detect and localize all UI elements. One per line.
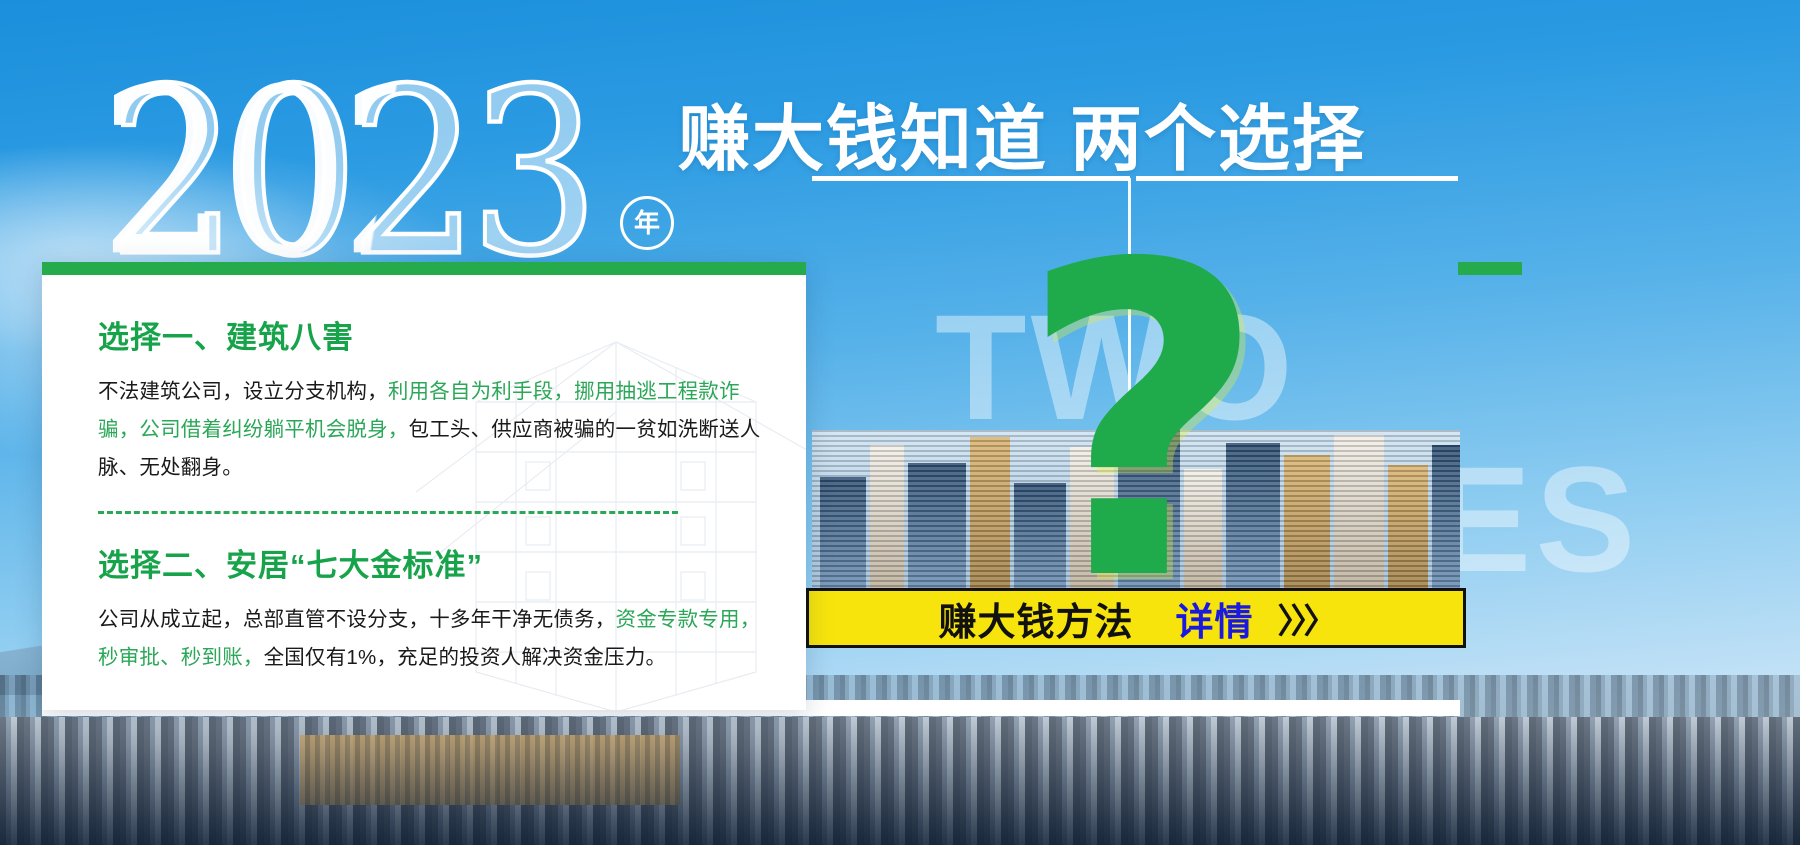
bottom-strip-highlight <box>300 735 680 805</box>
section-2-text-part-1: 公司从成立起，总部直管不设分支，十多年干净无债务， <box>98 608 616 631</box>
section-2-text: 公司从成立起，总部直管不设分支，十多年干净无债务，资金专款专用，秒审批、秒到账，… <box>98 601 772 677</box>
year-badge: 年 <box>620 196 674 250</box>
year-solid-text: 2023 <box>99 62 581 286</box>
question-mark-icon: ? <box>1018 210 1267 640</box>
section-2-text-part-3: 全国仅有1%，充足的投资人解决资金压力。 <box>264 646 667 669</box>
page-title: 赚大钱知道 两个选择 <box>678 80 1478 185</box>
section-1-text-part-1: 不法建筑公司，设立分支机构， <box>98 380 388 403</box>
section-2-title: 选择二、安居“七大金标准” <box>98 540 772 585</box>
cta-link-label[interactable]: 详情 <box>1176 591 1254 646</box>
section-1-title: 选择一、建筑八害 <box>98 312 772 357</box>
poster-canvas: 2023 2023 年 赚大钱知道 两个选择 TWO CHOICES ? 赚大钱… <box>0 0 1800 845</box>
section-divider <box>98 511 678 514</box>
section-1-text: 不法建筑公司，设立分支机构，利用各自为利手段，挪用抽逃工程款诈骗，公司借着纠纷躺… <box>98 373 772 487</box>
cta-main-label: 赚大钱方法 <box>938 591 1133 646</box>
card-section-1: 选择一、建筑八害 不法建筑公司，设立分支机构，利用各自为利手段，挪用抽逃工程款诈… <box>98 312 772 487</box>
bottom-city-strip <box>0 717 1800 845</box>
right-green-accent <box>1458 262 1522 275</box>
cta-bar[interactable]: 赚大钱方法 详情 〉〉〉 <box>806 588 1466 648</box>
card-section-2: 选择二、安居“七大金标准” 公司从成立起，总部直管不设分支，十多年干净无债务，资… <box>98 540 772 677</box>
content-card: 选择一、建筑八害 不法建筑公司，设立分支机构，利用各自为利手段，挪用抽逃工程款诈… <box>42 262 806 710</box>
chevron-right-icon: 〉〉〉 <box>1278 594 1334 643</box>
year-2023: 2023 2023 <box>108 62 590 262</box>
